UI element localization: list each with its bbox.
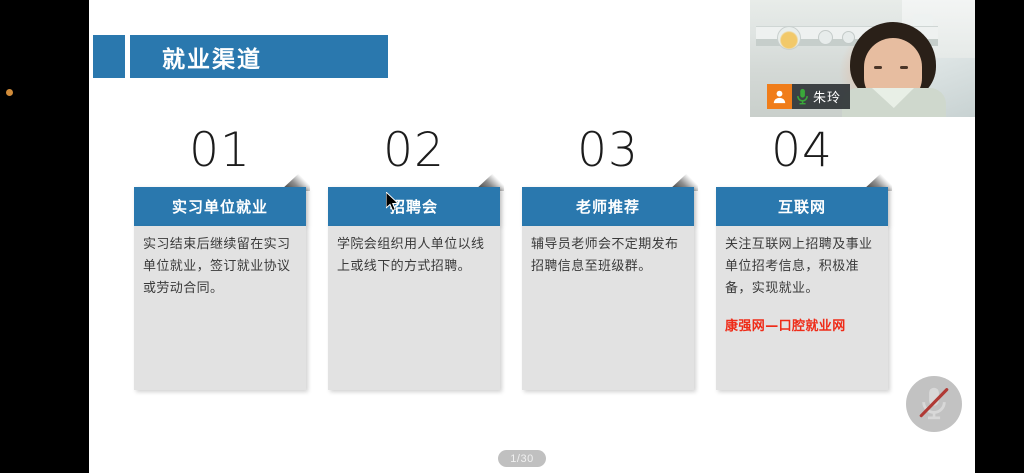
card-number: 01 [134,125,306,177]
channel-card-03[interactable]: 03 老师推荐 辅导员老师会不定期发布招聘信息至班级群。 [522,125,694,395]
card-number: 03 [522,125,694,177]
card-heading-bar[interactable]: 互联网 [716,187,888,226]
card-body: 关注互联网上招聘及事业单位招考信息，积极准备，实现就业。 康强网—口腔就业网 [716,226,888,390]
card-heading-bar[interactable]: 老师推荐 [522,187,694,226]
figure-eye-right [900,66,908,69]
mouse-cursor [386,192,400,212]
title-accent-block [93,35,125,78]
channel-card-01[interactable]: 01 实习单位就业 实习结束后继续留在实习单位就业，签订就业协议或劳动合同。 [134,125,306,395]
participant-video-tile[interactable]: 朱玲 [750,0,975,117]
card-highlight-text: 康强网—口腔就业网 [725,316,879,338]
microphone-icon [796,88,809,105]
participant-label: 朱玲 [767,84,850,109]
card-body: 学院会组织用人单位以线上或线下的方式招聘。 [328,226,500,390]
video-background-knob [818,30,833,45]
card-heading-bar[interactable]: 实习单位就业 [134,187,306,226]
microphone-muted-icon [917,385,951,423]
card-body: 辅导员老师会不定期发布招聘信息至班级群。 [522,226,694,390]
figure-eye-left [874,66,882,69]
video-background-bowl [777,26,801,50]
card-body-text: 辅导员老师会不定期发布招聘信息至班级群。 [531,234,685,278]
channel-card-02[interactable]: 02 招聘会 学院会组织用人单位以线上或线下的方式招聘。 [328,125,500,395]
card-heading-label: 老师推荐 [576,196,640,217]
channel-card-list: 01 实习单位就业 实习结束后继续留在实习单位就业，签订就业协议或劳动合同。 0… [89,125,975,400]
card-body-text: 学院会组织用人单位以线上或线下的方式招聘。 [337,234,491,278]
page-title: 就业渠道 [162,40,262,74]
card-body-text: 关注互联网上招聘及事业单位招考信息，积极准备，实现就业。 [725,234,879,300]
page-indicator: 1/30 [498,450,546,467]
page-indicator-label: 1/30 [510,453,533,465]
channel-card-04[interactable]: 04 互联网 关注互联网上招聘及事业单位招考信息，积极准备，实现就业。 康强网—… [716,125,888,395]
card-heading-label: 互联网 [778,196,826,217]
card-number: 04 [716,125,888,177]
person-icon [767,84,792,109]
card-heading-label: 实习单位就业 [172,196,268,217]
screen-share-viewer: 就业渠道 01 实习单位就业 实习结束后继续留在实习单位就业，签订就业协议或劳动… [0,0,1024,473]
card-body-text: 实习结束后继续留在实习单位就业，签订就业协议或劳动合同。 [143,234,297,300]
participant-figure [842,22,946,117]
card-body: 实习结束后继续留在实习单位就业，签订就业协议或劳动合同。 [134,226,306,390]
card-heading-bar[interactable]: 招聘会 [328,187,500,226]
card-number: 02 [328,125,500,177]
participant-name: 朱玲 [813,87,841,106]
mute-microphone-button[interactable] [906,376,962,432]
participant-name-bar: 朱玲 [792,84,850,109]
slide-title-bar: 就业渠道 [130,35,388,78]
screen-edge-dot [6,89,13,96]
